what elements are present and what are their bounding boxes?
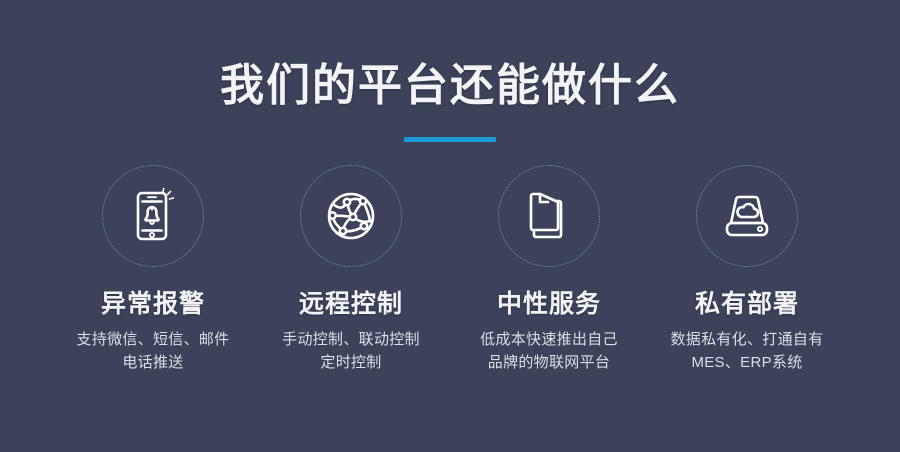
icon-ring [300,165,402,267]
banner-header: 我们的平台还能做什么 [0,58,900,142]
feature-card-desc-line1: 支持微信、短信、邮件 [76,328,229,351]
icon-ring [102,165,204,267]
icon-ring [498,165,600,267]
feature-card-desc-line2: MES、ERP系统 [670,351,823,374]
feature-card-title: 中性服务 [497,289,601,319]
feature-card-desc-line1: 低成本快速推出自己 [480,328,618,351]
title-underline [404,137,496,142]
feature-card-desc: 低成本快速推出自己 品牌的物联网平台 [480,328,618,374]
feature-banner: 我们的平台还能做什么 [0,0,900,452]
feature-card-title: 异常报警 [101,289,205,319]
feature-card-list: 异常报警 支持微信、短信、邮件 电话推送 [0,165,900,374]
feature-card-desc: 支持微信、短信、邮件 电话推送 [76,328,229,374]
feature-card-title: 远程控制 [299,289,403,319]
feature-card-desc-line2: 品牌的物联网平台 [480,351,618,374]
feature-card-desc-line1: 数据私有化、打通自有 [670,328,823,351]
feature-card-neutral-service[interactable]: 中性服务 低成本快速推出自己 品牌的物联网平台 [450,165,648,374]
feature-card-title: 私有部署 [695,289,799,319]
feature-card-desc-line1: 手动控制、联动控制 [282,328,420,351]
feature-card-private-deployment[interactable]: 私有部署 数据私有化、打通自有 MES、ERP系统 [648,165,846,374]
feature-card-desc: 数据私有化、打通自有 MES、ERP系统 [670,328,823,374]
network-globe-icon [320,185,382,247]
icon-ring [696,165,798,267]
feature-card-desc-line2: 定时控制 [282,351,420,374]
page-title: 我们的平台还能做什么 [0,58,900,114]
cloud-server-icon [716,185,778,247]
feature-card-remote-control[interactable]: 远程控制 手动控制、联动控制 定时控制 [252,165,450,374]
documents-stack-icon [518,185,580,247]
phone-bell-alarm-icon [122,185,184,247]
feature-card-desc-line2: 电话推送 [76,351,229,374]
feature-card-desc: 手动控制、联动控制 定时控制 [282,328,420,374]
feature-card-alarm[interactable]: 异常报警 支持微信、短信、邮件 电话推送 [54,165,252,374]
